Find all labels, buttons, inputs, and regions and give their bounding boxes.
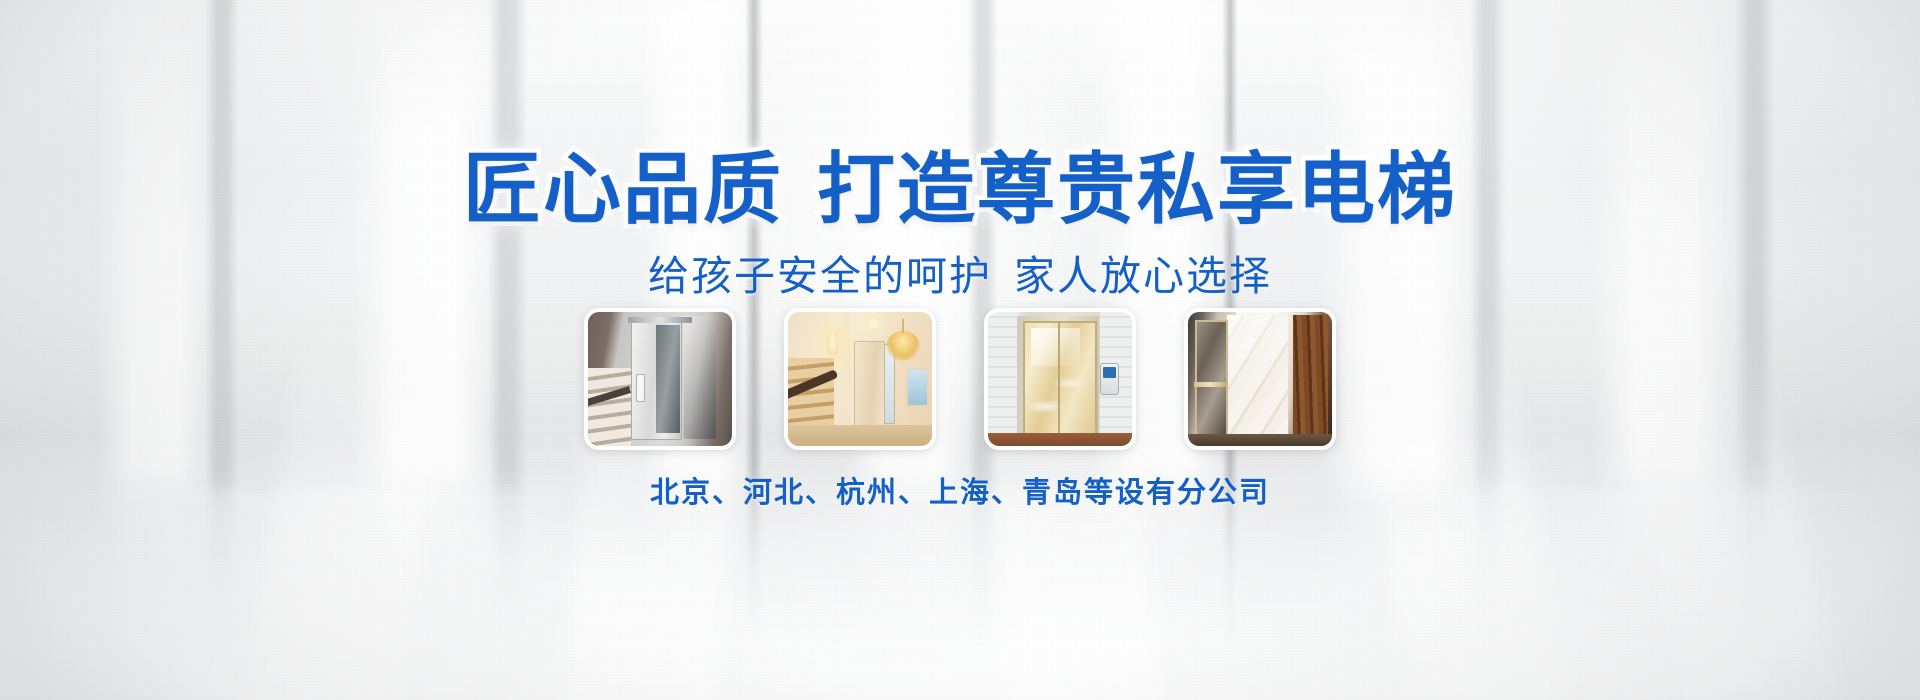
call-panel-shape: [636, 374, 645, 402]
product-photo-3[interactable]: [984, 308, 1136, 450]
window-shape: [906, 368, 929, 407]
product-photo-4[interactable]: [1184, 308, 1336, 450]
headline-part-2: 打造尊贵私享电梯: [817, 145, 1457, 233]
product-photo-1[interactable]: [584, 308, 736, 450]
wall-sconce-icon: [827, 333, 838, 355]
elevator-door-inner-shape: [656, 325, 680, 432]
left-wall-shape: [988, 312, 1017, 446]
call-panel-shape: [1100, 363, 1119, 395]
glass-reflection-shape: [1031, 328, 1080, 366]
product-photo-2[interactable]: [784, 308, 936, 450]
banner-subtitle: 给孩子安全的呵护家人放心选择: [0, 252, 1920, 301]
elevator-door-shape: [854, 341, 885, 431]
cabin-handrail-shape: [1194, 382, 1227, 387]
call-panel-display-icon: [1103, 367, 1116, 378]
branch-offices-text: 北京、河北、杭州、上海、青岛等设有分公司: [0, 476, 1920, 511]
villa-elevator-banner: 匠心品质打造尊贵私享电梯 给孩子安全的呵护家人放心选择: [0, 0, 1920, 700]
door-header-rail-shape: [628, 317, 691, 323]
marble-panel-shape: [1227, 315, 1288, 444]
floor-shape: [988, 433, 1132, 446]
silver-villa-elevator-image: [588, 312, 732, 446]
door-split-line: [1058, 321, 1060, 438]
gold-glass-elevator-image: [988, 312, 1132, 446]
ceiling-spotlight-icon: [869, 319, 878, 328]
marble-cabin-interior-image: [1188, 312, 1332, 446]
product-photo-strip: [0, 308, 1920, 450]
staircase-shape: [588, 368, 631, 446]
glass-wall-shape: [683, 316, 716, 439]
subtitle-part-1: 给孩子安全的呵护: [648, 253, 992, 299]
cream-hallway-elevator-image: [788, 312, 932, 446]
subtitle-part-2: 家人放心选择: [1014, 253, 1272, 299]
cabin-floor-shape: [1188, 434, 1332, 446]
headline-part-1: 匠心品质: [463, 145, 783, 233]
chandelier-icon: [886, 331, 920, 361]
banner-content: 匠心品质打造尊贵私享电梯 给孩子安全的呵护家人放心选择: [0, 0, 1920, 700]
banner-headline: 匠心品质打造尊贵私享电梯: [0, 147, 1920, 231]
wood-panel-shape: [1293, 315, 1328, 444]
floor-shape: [788, 425, 932, 446]
